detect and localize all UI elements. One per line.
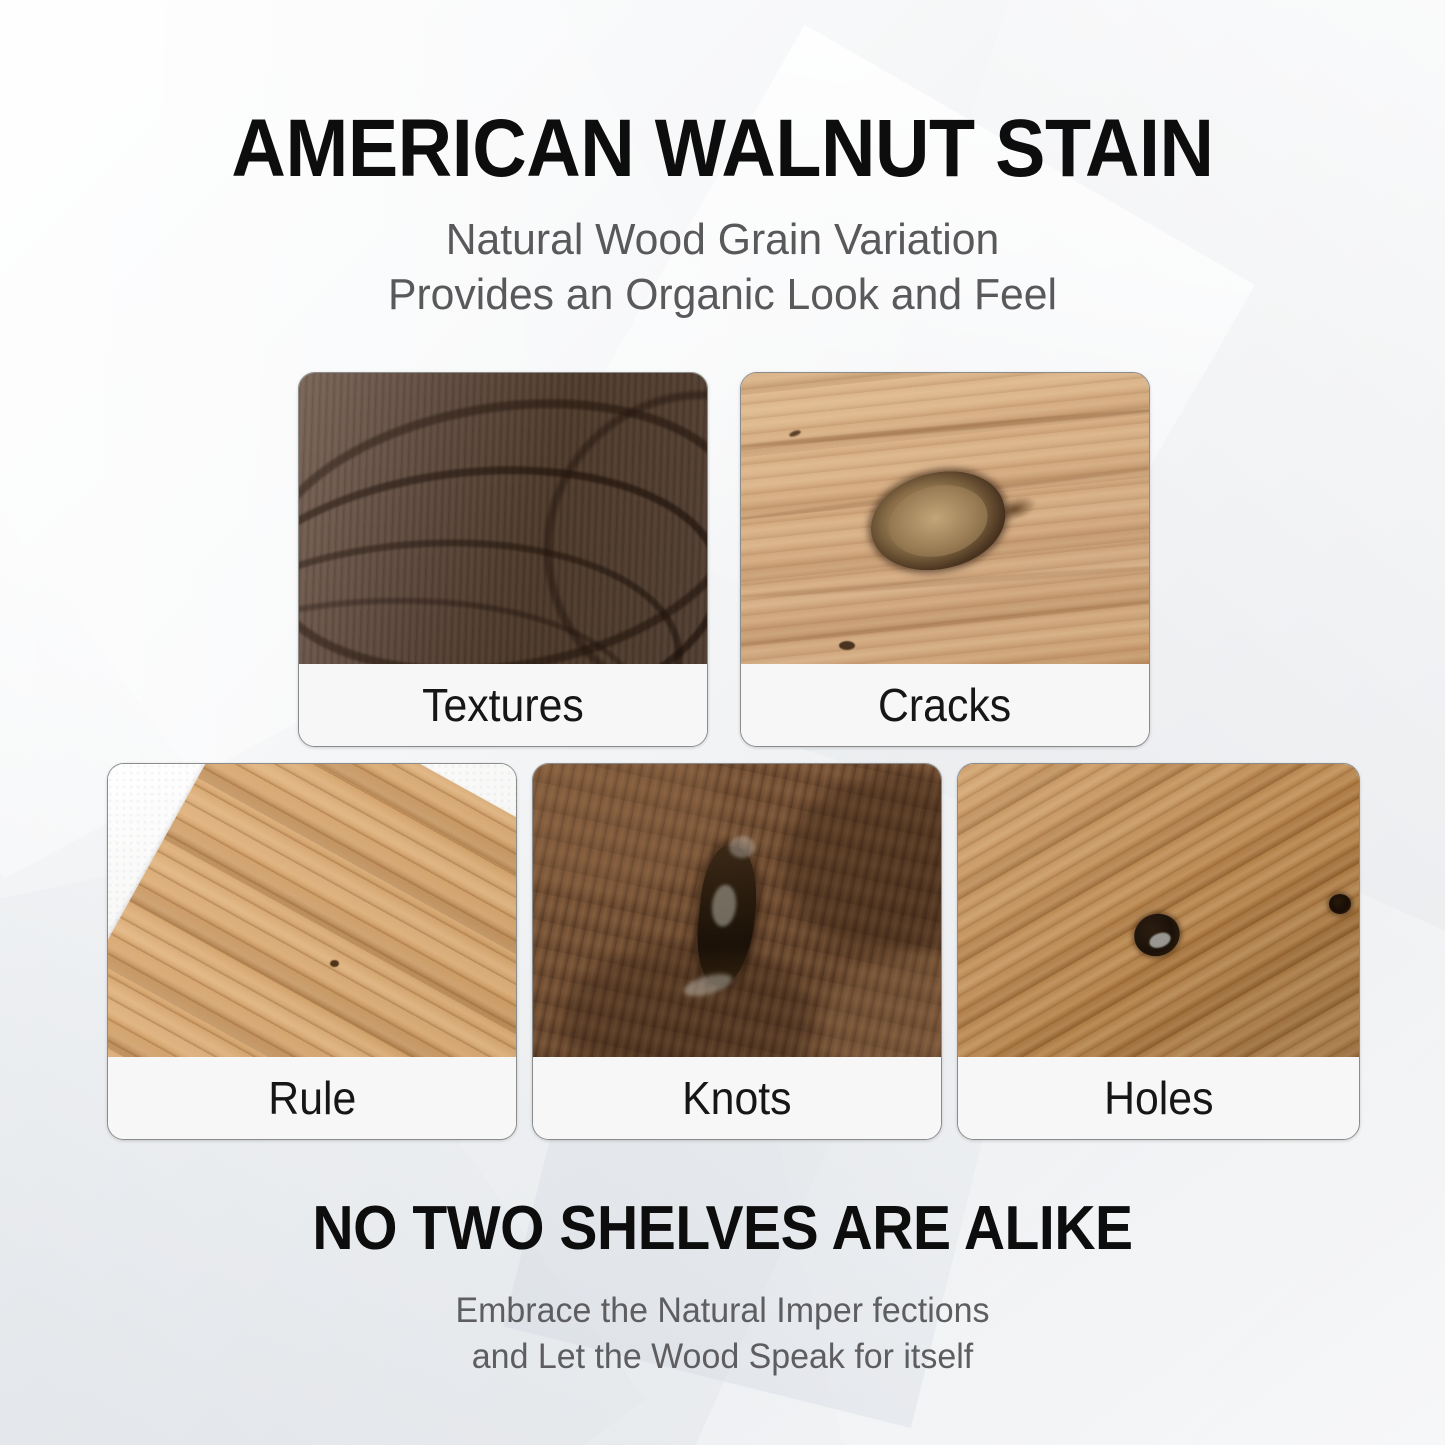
board-edge-texture <box>108 764 516 1057</box>
dark-walnut-grain-texture <box>299 373 707 664</box>
board-pinhole <box>330 960 339 967</box>
grain-line-4 <box>741 595 1149 649</box>
tan-wood-grain-texture <box>741 373 1149 664</box>
cracks-label: Cracks <box>878 678 1011 732</box>
cracks-label-bar: Cracks <box>741 664 1149 746</box>
holes-photo <box>958 764 1359 1057</box>
dark-brown-mottled-texture <box>533 764 941 1057</box>
footer-title: NO TWO SHELVES ARE ALIKE <box>58 1196 1387 1262</box>
warm-diagonal-grain-texture <box>958 764 1359 1057</box>
textures-label-bar: Textures <box>299 664 707 746</box>
small-crack-2 <box>789 429 802 438</box>
holes-label: Holes <box>1104 1071 1213 1125</box>
holes-label-bar: Holes <box>958 1057 1359 1139</box>
knots-photo <box>533 764 941 1057</box>
knot-highlight-upper <box>729 836 755 858</box>
knots-label-bar: Knots <box>533 1057 941 1139</box>
infographic-page: AMERICAN WALNUT STAIN Natural Wood Grain… <box>0 0 1445 1445</box>
rule-label-bar: Rule <box>108 1057 516 1139</box>
textures-photo <box>299 373 707 664</box>
cracks-photo <box>741 373 1149 664</box>
surface-sheen <box>299 373 707 664</box>
mottle-patch-3 <box>563 944 813 1057</box>
small-crack-1 <box>839 641 855 650</box>
mottle-patch-2 <box>783 774 941 954</box>
feature-card-knots[interactable]: Knots <box>532 763 942 1140</box>
feature-card-rule[interactable]: Rule <box>107 763 517 1140</box>
header-subtitle-line-1: Natural Wood Grain Variation <box>22 212 1424 267</box>
rule-label: Rule <box>268 1071 356 1125</box>
textures-label: Textures <box>422 678 584 732</box>
footer-subtitle-line-2: and Let the Wood Speak for itself <box>22 1334 1424 1380</box>
feature-card-holes[interactable]: Holes <box>957 763 1360 1140</box>
oval-knot <box>862 460 1015 582</box>
grain-line-1 <box>741 405 1149 451</box>
page-title: AMERICAN WALNUT STAIN <box>58 106 1387 192</box>
mottle-patch-4 <box>823 954 941 1057</box>
feature-card-textures[interactable]: Textures <box>298 372 708 747</box>
surface-sheen <box>958 764 1359 1057</box>
feature-card-cracks[interactable]: Cracks <box>740 372 1150 747</box>
rule-photo <box>108 764 516 1057</box>
footer-subtitle-line-1: Embrace the Natural Imper fections <box>22 1288 1424 1334</box>
header-subtitle-line-2: Provides an Organic Look and Feel <box>22 267 1424 322</box>
knots-label: Knots <box>682 1071 791 1125</box>
mottle-patch-1 <box>533 764 723 894</box>
